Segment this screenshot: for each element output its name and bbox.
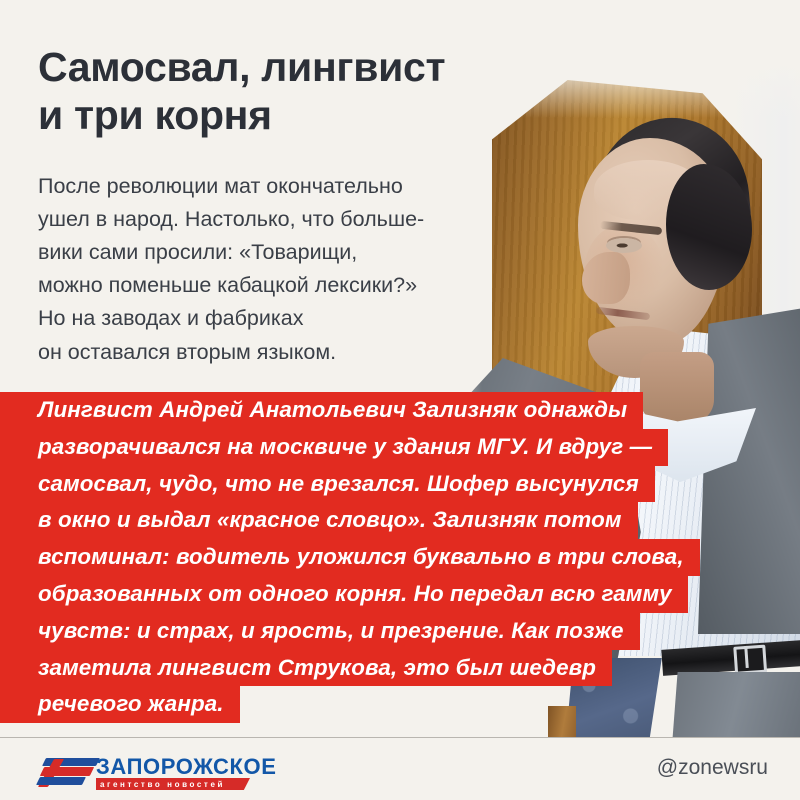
body-line: вики сами просили: «Товарищи, [38,236,508,269]
quote-line: чувств: и страх, и ярость, и презрение. … [0,613,640,650]
body-line: После революции мат окончательно [38,170,508,203]
z-logo-icon [38,757,98,787]
body-paragraph: После революции мат окончательно ушел в … [38,170,508,369]
quote-line: самосвал, чудо, что не врезался. Шофер в… [0,466,655,503]
quote-line: разворачивался на москвиче у здания МГУ.… [0,429,668,466]
logo-subtitle-bar: агентство новостей [96,778,250,790]
photo-nose [582,252,630,304]
body-line: Но на заводах и фабриках [38,302,508,335]
logo-subtitle: агентство новостей [96,778,250,789]
brand-logo[interactable]: ЗАПОРОЖСКОЕ агентство новостей [38,754,250,790]
page-title: Самосвал, лингвист и три корня [38,44,508,139]
quote-line: Лингвист Андрей Анатольевич Зализняк одн… [0,392,643,429]
footer-divider [0,737,800,738]
news-card: Самосвал, лингвист и три корня После рев… [0,0,800,800]
body-line: ушел в народ. Настолько, что больше- [38,203,508,236]
quote-line: вспоминал: водитель уложился буквально в… [0,539,700,576]
quote-line: речевого жанра. [0,686,240,723]
highlighted-quote: Лингвист Андрей Анатольевич Зализняк одн… [0,392,800,723]
social-handle[interactable]: @zonewsru [657,756,768,780]
headline-line-1: Самосвал, лингвист [38,44,508,92]
photo-eye [606,238,642,253]
quote-line: образованных от одного корня. Но передал… [0,576,688,613]
quote-line: заметила лингвист Струкова, это был шеде… [0,650,612,687]
logo-wordmark: ЗАПОРОЖСКОЕ [96,754,277,780]
body-line: он оставался вторым языком. [38,336,508,369]
quote-line: в окно и выдал «красное словцо». Зализня… [0,502,638,539]
body-line: можно поменьше кабацкой лексики?» [38,269,508,302]
headline-line-2: и три корня [38,92,508,140]
photo-head [570,120,746,360]
